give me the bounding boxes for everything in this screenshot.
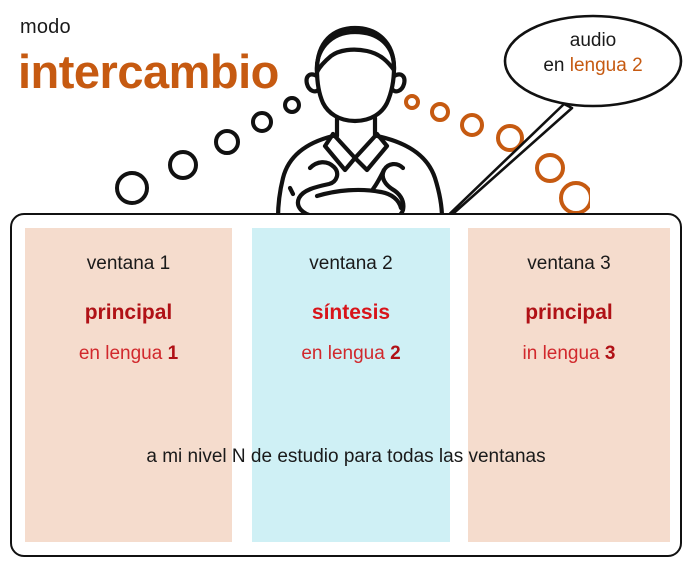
window-3-language-prefix: in lengua bbox=[523, 343, 605, 364]
window-3-language-number: 3 bbox=[605, 343, 616, 364]
window-column-1[interactable]: ventana 1 principal en lengua 1 bbox=[25, 228, 232, 542]
balloon-line-2-highlight: lengua 2 bbox=[570, 55, 643, 76]
footer-note: a mi nivel N de estudio para todas las v… bbox=[10, 446, 682, 468]
window-3-language: in lengua 3 bbox=[468, 343, 670, 365]
window-3-role: principal bbox=[468, 301, 670, 325]
header-kicker: modo bbox=[20, 16, 71, 39]
window-1-header: ventana 1 bbox=[25, 253, 232, 275]
window-1-language: en lengua 1 bbox=[25, 343, 232, 365]
window-2-language: en lengua 2 bbox=[252, 343, 450, 365]
slide-canvas: modo intercambio bbox=[0, 0, 695, 571]
window-1-role: principal bbox=[25, 301, 232, 325]
window-1-language-number: 1 bbox=[168, 343, 179, 364]
windows-columns: ventana 1 principal en lengua 1 ventana … bbox=[25, 228, 670, 542]
window-2-language-number: 2 bbox=[390, 343, 401, 364]
window-3-header: ventana 3 bbox=[468, 253, 670, 275]
balloon-line-2-prefix: en bbox=[543, 55, 569, 76]
window-2-language-prefix: en lengua bbox=[301, 343, 390, 364]
window-2-header: ventana 2 bbox=[252, 253, 450, 275]
balloon-line-1: audio bbox=[505, 28, 681, 53]
window-column-3[interactable]: ventana 3 principal in lengua 3 bbox=[468, 228, 670, 542]
window-1-language-prefix: en lengua bbox=[79, 343, 168, 364]
balloon-line-2: en lengua 2 bbox=[505, 53, 681, 78]
window-column-2[interactable]: ventana 2 síntesis en lengua 2 bbox=[252, 228, 450, 542]
window-2-role: síntesis bbox=[252, 301, 450, 325]
speech-balloon-text: audio en lengua 2 bbox=[505, 28, 681, 78]
